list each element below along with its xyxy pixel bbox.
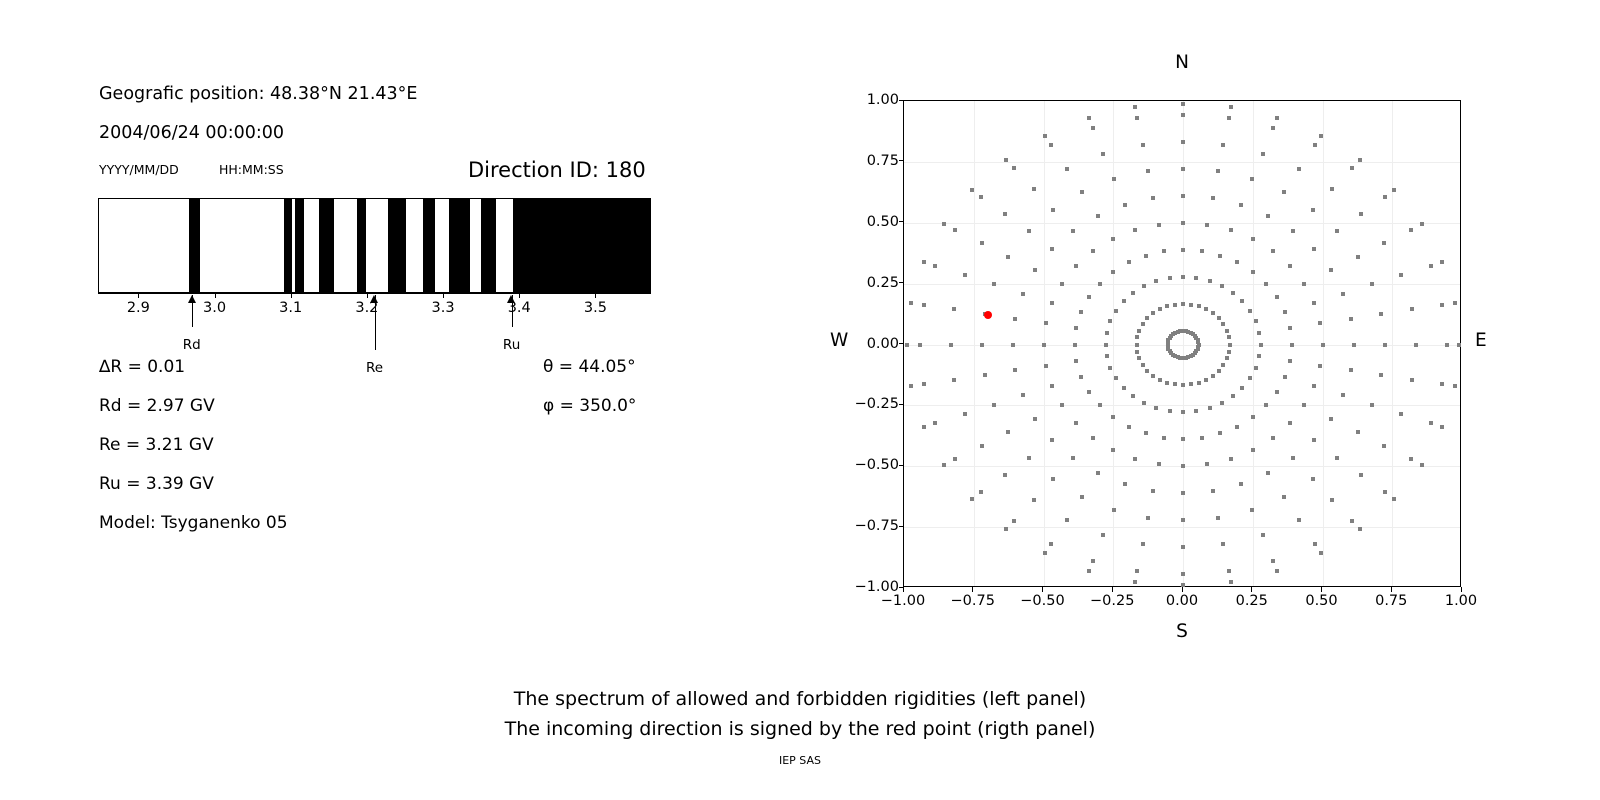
- direction-point: [1114, 376, 1118, 380]
- forbidden-band: [295, 199, 304, 292]
- x-tick-mark: [519, 293, 520, 298]
- direction-point: [1181, 102, 1185, 106]
- direction-point: [1302, 282, 1306, 286]
- y-tick-mark: [899, 404, 904, 405]
- direction-point: [1271, 559, 1275, 563]
- direction-point: [1217, 369, 1221, 373]
- geographic-position-label: Geografic position: 48.38°N 21.43°E: [99, 84, 417, 104]
- spectrum-bar: [98, 198, 651, 293]
- stat-model: Model: Tsyganenko 05: [99, 513, 288, 533]
- direction-point: [980, 343, 984, 347]
- direction-point: [1216, 516, 1220, 520]
- direction-point: [1079, 375, 1083, 379]
- direction-point: [1211, 196, 1215, 200]
- direction-point: [1205, 462, 1209, 466]
- direction-point: [1330, 187, 1334, 191]
- direction-point: [970, 497, 974, 501]
- time-format-label: HH:MM:SS: [219, 162, 284, 177]
- direction-map-panel: N S W E −1.00−0.75−0.50−0.250.000.250.50…: [903, 100, 1461, 587]
- direction-point: [1137, 329, 1141, 333]
- direction-point: [1457, 343, 1461, 347]
- x-tick-mark: [1251, 587, 1252, 592]
- direction-id-label: Direction ID: 180: [468, 158, 646, 182]
- direction-point: [1248, 376, 1252, 380]
- direction-point: [1251, 415, 1255, 419]
- caption-line-1: The spectrum of allowed and forbidden ri…: [0, 684, 1600, 714]
- direction-point: [1158, 307, 1162, 311]
- direction-point: [1229, 580, 1233, 584]
- direction-point: [1221, 542, 1225, 546]
- forbidden-band: [449, 199, 470, 292]
- direction-point: [1087, 295, 1091, 299]
- forbidden-band: [284, 199, 292, 292]
- direction-point: [1208, 279, 1212, 283]
- direction-point: [992, 403, 996, 407]
- direction-point: [1311, 208, 1315, 212]
- direction-point: [1137, 356, 1141, 360]
- direction-point: [1141, 542, 1145, 546]
- x-tick-mark: [1321, 587, 1322, 592]
- direction-point: [1033, 268, 1037, 272]
- direction-point: [1383, 490, 1387, 494]
- direction-point: [905, 343, 909, 347]
- direction-point: [1239, 203, 1243, 207]
- y-tick-label: 0.25: [867, 275, 899, 291]
- x-tick-mark: [291, 293, 292, 298]
- direction-point: [1021, 292, 1025, 296]
- x-tick-mark: [1042, 587, 1043, 592]
- figure-caption: The spectrum of allowed and forbidden ri…: [0, 684, 1600, 744]
- stat-phi: φ = 350.0°: [543, 396, 636, 416]
- footer-credit: IEP SAS: [0, 754, 1600, 767]
- direction-point: [1211, 311, 1215, 315]
- direction-point: [1141, 363, 1145, 367]
- direction-point: [1181, 545, 1185, 549]
- direction-point: [1251, 270, 1255, 274]
- y-tick-mark: [899, 160, 904, 161]
- direction-point: [1211, 489, 1215, 493]
- direction-point: [1157, 462, 1161, 466]
- direction-point: [1154, 406, 1158, 410]
- direction-point: [922, 382, 926, 386]
- direction-point: [1101, 152, 1105, 156]
- y-tick-label: 1.00: [867, 92, 899, 108]
- direction-point: [1181, 491, 1185, 495]
- direction-point: [1091, 559, 1095, 563]
- direction-point: [1051, 477, 1055, 481]
- compass-west-label: W: [830, 330, 848, 351]
- direction-point: [1060, 403, 1064, 407]
- direction-point: [1142, 401, 1146, 405]
- direction-point: [1204, 378, 1208, 382]
- direction-point: [1181, 221, 1185, 225]
- datetime-label: 2004/06/24 00:00:00: [99, 123, 284, 143]
- direction-point: [1142, 284, 1146, 288]
- direction-point: [1114, 309, 1118, 313]
- direction-point: [1392, 497, 1396, 501]
- direction-point: [1429, 421, 1433, 425]
- stat-theta: θ = 44.05°: [543, 357, 636, 377]
- direction-point: [1414, 343, 1418, 347]
- direction-point: [1189, 382, 1193, 386]
- forbidden-band: [357, 199, 366, 292]
- direction-point: [1227, 350, 1231, 354]
- direction-point: [1131, 291, 1135, 295]
- direction-point: [1091, 126, 1095, 130]
- x-tick-mark: [215, 293, 216, 298]
- direction-point: [942, 463, 946, 467]
- x-tick-label: −0.25: [1090, 593, 1134, 609]
- direction-point: [1231, 291, 1235, 295]
- direction-point: [1131, 394, 1135, 398]
- direction-point: [1181, 572, 1185, 576]
- direction-point: [1330, 498, 1334, 502]
- direction-point: [1409, 457, 1413, 461]
- x-tick-label: 0.00: [1166, 593, 1198, 609]
- direction-point: [1382, 241, 1386, 245]
- direction-point: [953, 457, 957, 461]
- direction-point: [1146, 516, 1150, 520]
- direction-point: [1123, 482, 1127, 486]
- direction-point: [1042, 343, 1046, 347]
- x-tick-label: 3.0: [203, 300, 226, 316]
- direction-point: [1257, 354, 1261, 358]
- direction-point: [1181, 464, 1185, 468]
- direction-point: [942, 222, 946, 226]
- direction-point: [1271, 126, 1275, 130]
- direction-point: [1251, 237, 1255, 241]
- forbidden-band: [481, 199, 496, 292]
- direction-point: [1133, 580, 1137, 584]
- direction-point: [1011, 343, 1015, 347]
- direction-point: [1229, 105, 1233, 109]
- direction-point: [1250, 177, 1254, 181]
- direction-point: [1335, 229, 1339, 233]
- direction-point: [1096, 214, 1100, 218]
- direction-point: [1259, 343, 1263, 347]
- direction-point: [909, 301, 913, 305]
- direction-point: [1240, 299, 1244, 303]
- direction-point: [1074, 359, 1078, 363]
- direction-point: [1235, 260, 1239, 264]
- direction-point: [1145, 316, 1149, 320]
- direction-point: [1231, 394, 1235, 398]
- direction-point: [1050, 301, 1054, 305]
- direction-point: [1440, 425, 1444, 429]
- direction-point: [1211, 374, 1215, 378]
- direction-point: [1218, 254, 1222, 258]
- rigidity-spectrum-panel: Geografic position: 48.38°N 21.43°E 2004…: [0, 0, 760, 600]
- direction-point: [1275, 295, 1279, 299]
- gridline-horizontal: [904, 527, 1460, 528]
- x-tick-label: 0.50: [1305, 593, 1337, 609]
- direction-point: [1168, 409, 1172, 413]
- direction-point: [1218, 431, 1222, 435]
- direction-point: [983, 373, 987, 377]
- direction-point: [1141, 143, 1145, 147]
- direction-point: [1181, 194, 1185, 198]
- x-tick-mark: [367, 293, 368, 298]
- direction-point: [1240, 386, 1244, 390]
- marker-label: Rd: [183, 337, 201, 353]
- direction-point: [1181, 248, 1185, 252]
- direction-point: [1420, 222, 1424, 226]
- direction-point: [1189, 303, 1193, 307]
- direction-point: [1004, 527, 1008, 531]
- direction-point: [1141, 322, 1145, 326]
- x-tick-mark: [1461, 587, 1462, 592]
- direction-point: [1049, 143, 1053, 147]
- direction-point: [1071, 229, 1075, 233]
- direction-point: [1154, 279, 1158, 283]
- direction-point: [1043, 551, 1047, 555]
- x-tick-label: 0.75: [1375, 593, 1407, 609]
- direction-point: [1225, 329, 1229, 333]
- y-tick-mark: [899, 221, 904, 222]
- direction-point: [1073, 343, 1077, 347]
- direction-point: [1074, 326, 1078, 330]
- direction-point: [1271, 436, 1275, 440]
- direction-point: [1091, 436, 1095, 440]
- direction-point: [1453, 384, 1457, 388]
- direction-point: [1225, 356, 1229, 360]
- direction-point: [1071, 456, 1075, 460]
- direction-point: [1440, 303, 1444, 307]
- direction-point: [1358, 158, 1362, 162]
- direction-point: [1288, 264, 1292, 268]
- y-tick-mark: [899, 526, 904, 527]
- stat-rd: Rd = 2.97 GV: [99, 396, 215, 416]
- direction-point: [1173, 382, 1177, 386]
- direction-point: [1257, 331, 1261, 335]
- x-tick-mark: [443, 293, 444, 298]
- direction-point: [1050, 247, 1054, 251]
- direction-point: [1282, 495, 1286, 499]
- direction-point: [1098, 403, 1102, 407]
- compass-east-label: E: [1475, 330, 1487, 351]
- arrow-up-icon: [188, 295, 196, 303]
- direction-point: [1181, 383, 1185, 387]
- direction-point: [1122, 386, 1126, 390]
- direction-point: [933, 264, 937, 268]
- direction-point: [1080, 495, 1084, 499]
- direction-point: [1165, 381, 1169, 385]
- direction-point: [1111, 415, 1115, 419]
- direction-point: [1044, 364, 1048, 368]
- direction-point: [949, 343, 953, 347]
- direction-point: [1235, 425, 1239, 429]
- y-tick-mark: [899, 282, 904, 283]
- direction-point: [952, 378, 956, 382]
- direction-point: [1221, 143, 1225, 147]
- direction-point: [1027, 456, 1031, 460]
- direction-point: [1091, 249, 1095, 253]
- direction-point: [1297, 518, 1301, 522]
- direction-point: [1033, 417, 1037, 421]
- direction-point: [1288, 326, 1292, 330]
- direction-point: [1264, 282, 1268, 286]
- x-tick-mark: [138, 293, 139, 298]
- direction-point: [1220, 284, 1224, 288]
- direction-point: [1420, 463, 1424, 467]
- stat-re: Re = 3.21 GV: [99, 435, 214, 455]
- direction-point: [1087, 390, 1091, 394]
- direction-point: [1133, 228, 1137, 232]
- direction-point: [1379, 373, 1383, 377]
- direction-point: [963, 273, 967, 277]
- direction-point: [1350, 519, 1354, 523]
- direction-point: [1151, 374, 1155, 378]
- direction-point: [1021, 393, 1025, 397]
- direction-point: [1123, 203, 1127, 207]
- direction-point: [1181, 140, 1185, 144]
- x-tick-mark: [1112, 587, 1113, 592]
- direction-point: [1165, 304, 1169, 308]
- direction-point: [1266, 471, 1270, 475]
- x-tick-label: −0.75: [951, 593, 995, 609]
- direction-point: [1204, 307, 1208, 311]
- direction-point: [1248, 309, 1252, 313]
- y-tick-label: 0.00: [867, 336, 899, 352]
- direction-point: [1221, 363, 1225, 367]
- direction-point: [1197, 304, 1201, 308]
- direction-point: [1013, 368, 1017, 372]
- direction-point: [1135, 335, 1139, 339]
- direction-point: [1111, 270, 1115, 274]
- marker-label: Re: [366, 360, 383, 376]
- forbidden-band: [423, 199, 435, 292]
- compass-south-label: S: [1176, 621, 1188, 642]
- direction-point: [1162, 249, 1166, 253]
- direction-point: [1254, 319, 1258, 323]
- direction-point: [1288, 359, 1292, 363]
- direction-point: [1122, 299, 1126, 303]
- x-tick-mark: [903, 587, 904, 592]
- gridline-horizontal: [904, 284, 1460, 285]
- gridline-horizontal: [904, 405, 1460, 406]
- direction-point: [1319, 551, 1323, 555]
- gridline-vertical: [1392, 101, 1393, 586]
- direction-point: [1012, 519, 1016, 523]
- direction-point: [1318, 321, 1322, 325]
- direction-point: [1151, 311, 1155, 315]
- direction-point: [1313, 143, 1317, 147]
- direction-point: [1043, 134, 1047, 138]
- direction-point: [1013, 317, 1017, 321]
- direction-point: [1283, 310, 1287, 314]
- direction-point: [1135, 343, 1139, 347]
- forbidden-band: [189, 199, 200, 292]
- direction-point: [1032, 187, 1036, 191]
- arrow-shaft: [375, 295, 376, 350]
- direction-point: [1087, 569, 1091, 573]
- direction-point: [1453, 301, 1457, 305]
- x-tick-label: 3.1: [279, 300, 302, 316]
- direction-point: [1220, 401, 1224, 405]
- direction-point: [1356, 255, 1360, 259]
- direction-point: [922, 260, 926, 264]
- direction-point: [1312, 384, 1316, 388]
- direction-point: [1144, 431, 1148, 435]
- direction-point: [1440, 382, 1444, 386]
- direction-point: [1251, 448, 1255, 452]
- y-tick-mark: [899, 465, 904, 466]
- direction-point: [1227, 335, 1231, 339]
- direction-point: [970, 188, 974, 192]
- direction-point: [1359, 212, 1363, 216]
- direction-point: [1383, 195, 1387, 199]
- direction-point: [1144, 254, 1148, 258]
- y-tick-mark: [899, 343, 904, 344]
- direction-point: [1228, 343, 1232, 347]
- direction-point: [1181, 113, 1185, 117]
- direction-point: [1027, 229, 1031, 233]
- direction-point: [1050, 438, 1054, 442]
- direction-point: [1271, 249, 1275, 253]
- direction-point: [1382, 444, 1386, 448]
- direction-point: [1356, 430, 1360, 434]
- direction-point: [1410, 378, 1414, 382]
- direction-point: [1162, 436, 1166, 440]
- direction-point: [1051, 208, 1055, 212]
- direction-point: [922, 303, 926, 307]
- direction-point: [1181, 167, 1185, 171]
- direction-point: [979, 195, 983, 199]
- direction-point: [1065, 518, 1069, 522]
- direction-point: [1004, 158, 1008, 162]
- direction-point: [1101, 533, 1105, 537]
- direction-point: [1216, 169, 1220, 173]
- direction-point: [1291, 229, 1295, 233]
- arrow-up-icon: [370, 295, 378, 303]
- direction-point: [1349, 317, 1353, 321]
- direction-point: [1239, 482, 1243, 486]
- direction-point: [1168, 276, 1172, 280]
- direction-point: [1194, 276, 1198, 280]
- direction-point: [992, 282, 996, 286]
- direction-point: [1074, 421, 1078, 425]
- direction-point: [1096, 471, 1100, 475]
- direction-point: [1135, 569, 1139, 573]
- direction-point: [1410, 307, 1414, 311]
- direction-point: [1341, 292, 1345, 296]
- x-tick-label: 2.9: [127, 300, 150, 316]
- direction-point: [1370, 403, 1374, 407]
- incoming-direction-point[interactable]: [984, 311, 992, 319]
- direction-point: [1319, 134, 1323, 138]
- x-tick-label: 1.00: [1445, 593, 1477, 609]
- direction-point: [1178, 329, 1182, 333]
- direction-point: [1181, 275, 1185, 279]
- marker-label: Ru: [503, 337, 520, 353]
- direction-point: [1200, 436, 1204, 440]
- direction-point: [1288, 421, 1292, 425]
- forbidden-band: [319, 199, 334, 292]
- x-tick-label: 0.25: [1236, 593, 1268, 609]
- direction-point: [1050, 384, 1054, 388]
- gridline-vertical: [1183, 101, 1184, 586]
- direction-point: [1080, 190, 1084, 194]
- arrow-up-icon: [507, 295, 515, 303]
- direction-point: [1409, 228, 1413, 232]
- polar-plot-frame: [903, 100, 1461, 587]
- direction-point: [1111, 448, 1115, 452]
- y-tick-label: 0.75: [867, 153, 899, 169]
- direction-point: [1290, 343, 1294, 347]
- direction-point: [1217, 316, 1221, 320]
- direction-point: [1329, 268, 1333, 272]
- direction-point: [1275, 390, 1279, 394]
